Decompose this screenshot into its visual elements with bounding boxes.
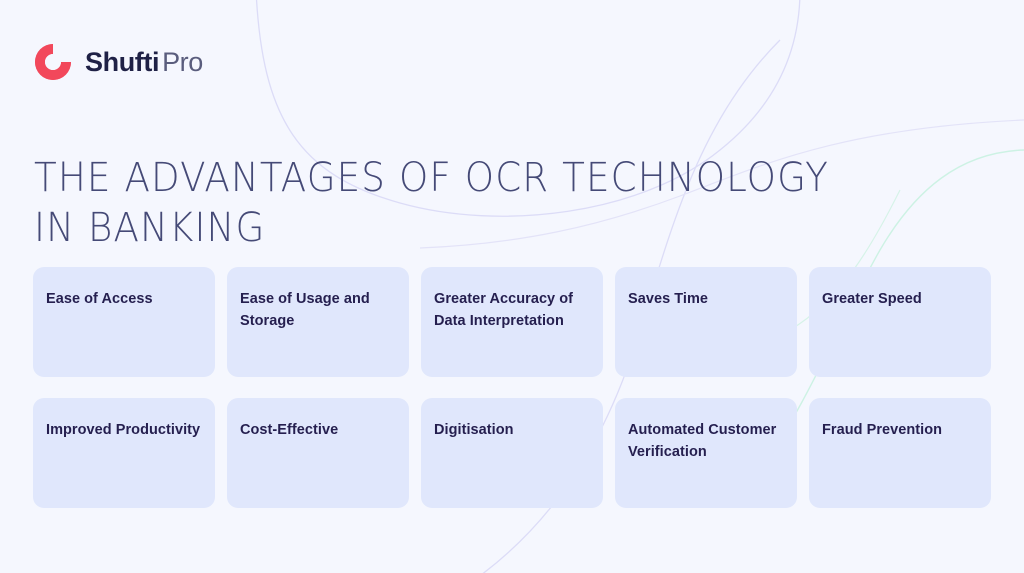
- shufti-ring-logo-icon: [33, 42, 73, 82]
- brand-name-light: Pro: [162, 47, 203, 77]
- advantage-card[interactable]: Greater Speed: [809, 267, 991, 377]
- advantage-card-label: Improved Productivity: [46, 419, 202, 441]
- card-row-1: Ease of Access Ease of Usage and Storage…: [33, 267, 991, 377]
- advantage-card-label: Cost-Effective: [240, 419, 396, 441]
- advantage-card[interactable]: Saves Time: [615, 267, 797, 377]
- advantage-card-label: Greater Speed: [822, 288, 978, 310]
- advantage-card[interactable]: Ease of Usage and Storage: [227, 267, 409, 377]
- brand-name-strong: Shufti: [85, 47, 159, 77]
- infographic-canvas: ShuftiPro THE ADVANTAGES OF OCR TECHNOLO…: [0, 0, 1024, 573]
- advantage-card[interactable]: Fraud Prevention: [809, 398, 991, 508]
- page-title: THE ADVANTAGES OF OCR TECHNOLOGY IN BANK…: [34, 153, 834, 253]
- advantage-card[interactable]: Greater Accuracy of Data Interpretation: [421, 267, 603, 377]
- advantage-card-label: Greater Accuracy of Data Interpretation: [434, 288, 590, 332]
- advantage-card-label: Ease of Usage and Storage: [240, 288, 396, 332]
- advantage-card-label: Fraud Prevention: [822, 419, 978, 441]
- advantage-card[interactable]: Digitisation: [421, 398, 603, 508]
- brand-wordmark: ShuftiPro: [85, 49, 203, 76]
- advantage-card[interactable]: Automated Customer Verification: [615, 398, 797, 508]
- advantage-card[interactable]: Cost-Effective: [227, 398, 409, 508]
- advantage-card-label: Automated Customer Verification: [628, 419, 784, 463]
- advantage-card-label: Ease of Access: [46, 288, 202, 310]
- advantages-card-grid: Ease of Access Ease of Usage and Storage…: [33, 267, 991, 508]
- advantage-card[interactable]: Ease of Access: [33, 267, 215, 377]
- card-row-2: Improved Productivity Cost-Effective Dig…: [33, 398, 991, 508]
- brand-logo[interactable]: ShuftiPro: [33, 38, 203, 86]
- advantage-card-label: Digitisation: [434, 419, 590, 441]
- advantage-card-label: Saves Time: [628, 288, 784, 310]
- advantage-card[interactable]: Improved Productivity: [33, 398, 215, 508]
